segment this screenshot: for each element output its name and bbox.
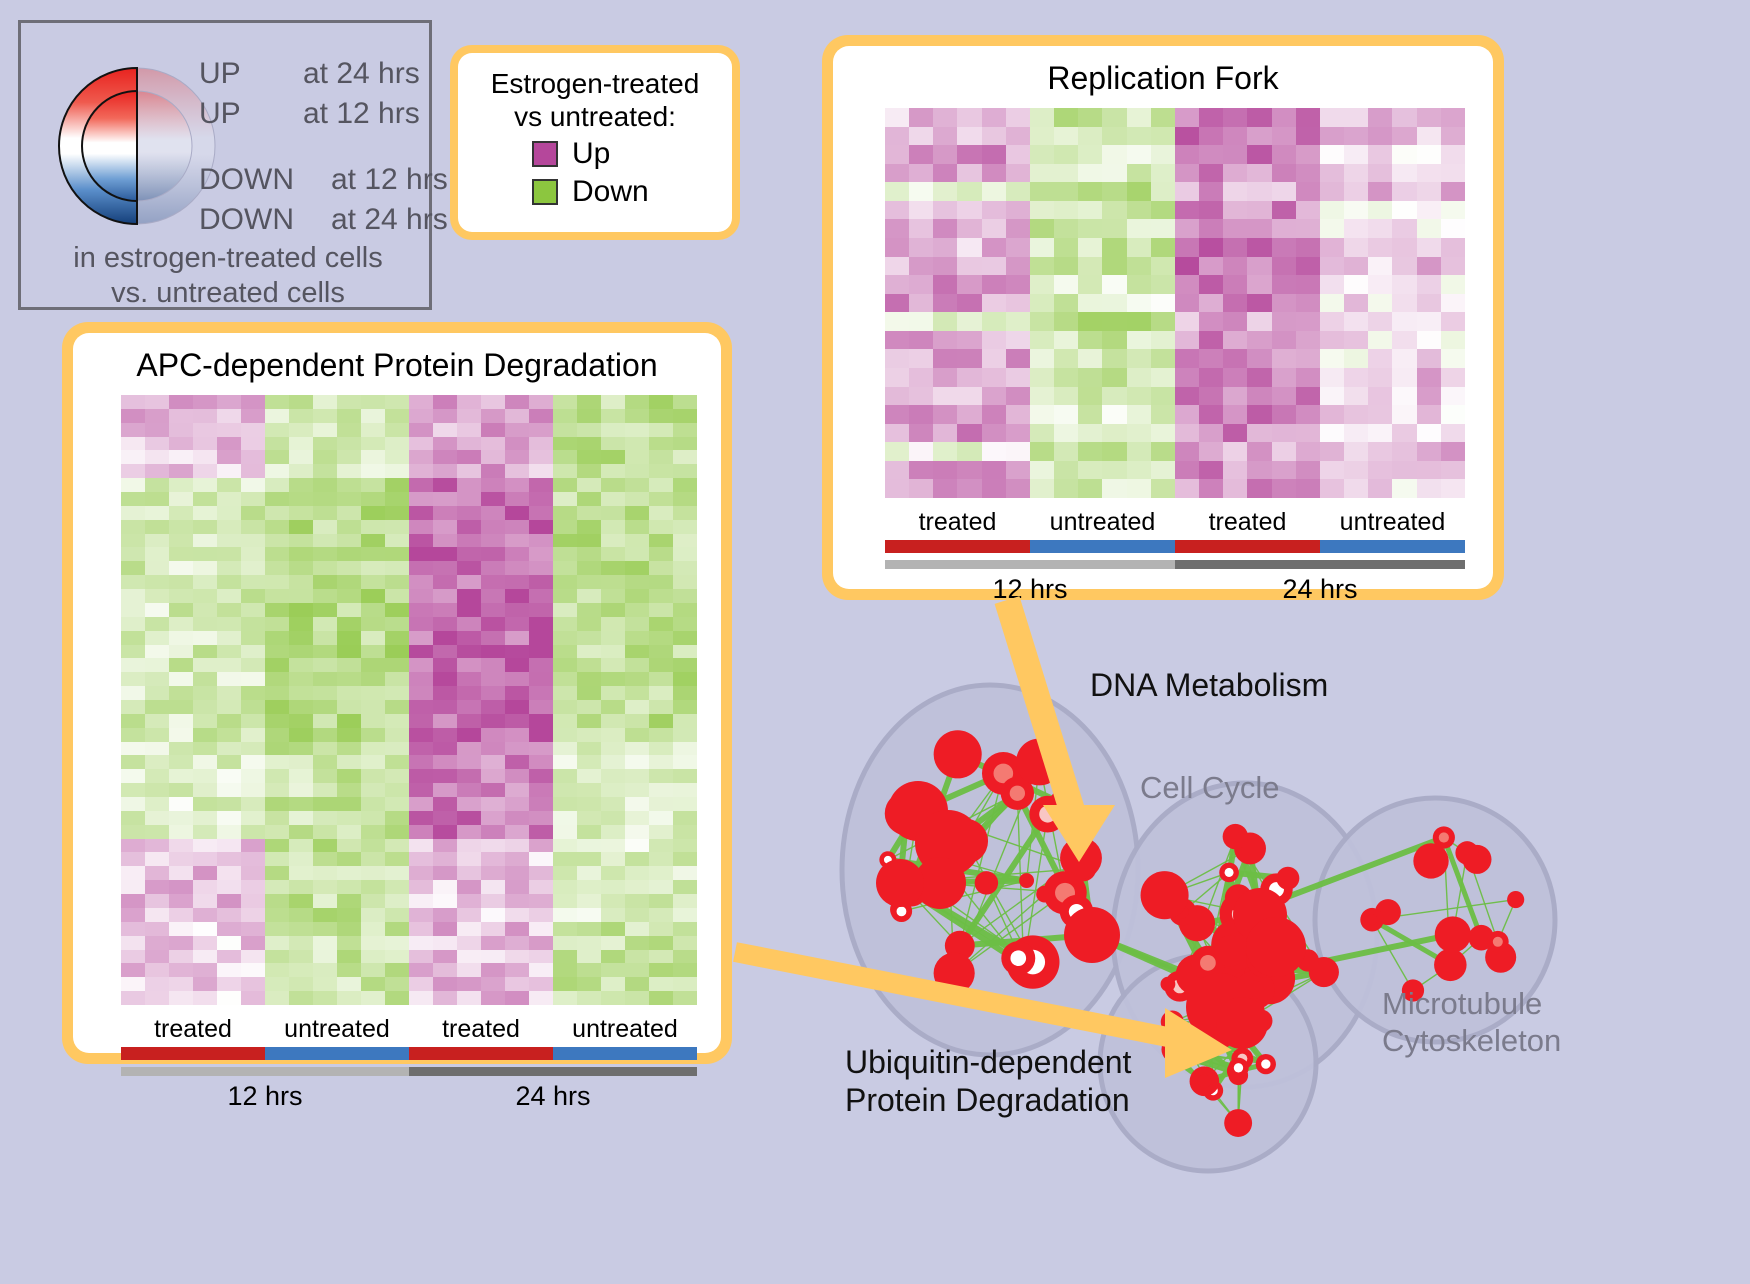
arrowhead-replication-fork bbox=[1043, 805, 1115, 862]
arrow-replication-fork bbox=[1007, 600, 1075, 820]
arrowhead-apc bbox=[1165, 1008, 1232, 1078]
arrow-apc bbox=[735, 952, 1193, 1042]
callout-arrows bbox=[0, 0, 1750, 1279]
